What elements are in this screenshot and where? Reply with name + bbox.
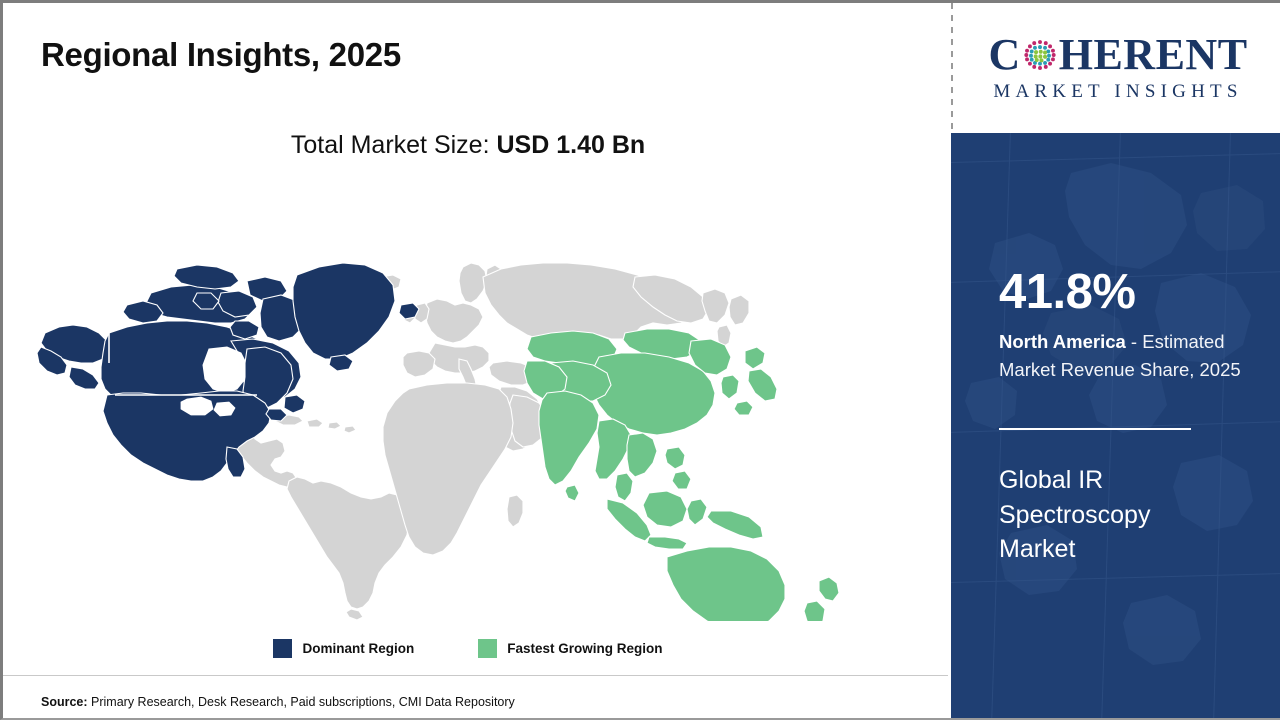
logo-wordmark-rest: HERENT [1059, 33, 1248, 77]
source-text: Primary Research, Desk Research, Paid su… [88, 695, 515, 709]
source-divider [3, 675, 948, 676]
legend-label-dominant: Dominant Region [302, 641, 414, 656]
page-title: Regional Insights, 2025 [41, 36, 401, 74]
stat-region-name: North America [999, 331, 1126, 352]
source-label: Source: [41, 695, 88, 709]
world-map [31, 181, 861, 621]
stat-panel: 41.8% North America - Estimated Market R… [951, 133, 1280, 720]
panel-content: 41.8% North America - Estimated Market R… [999, 133, 1280, 720]
logo-wordmark: C [988, 33, 1247, 77]
map-legend: Dominant Region Fastest Growing Region [3, 639, 933, 658]
globe-dots-icon [1022, 37, 1058, 73]
market-size-value: USD 1.40 Bn [496, 131, 645, 159]
market-name: Global IR Spectroscopy Market [999, 463, 1229, 567]
source-note: Source: Primary Research, Desk Research,… [41, 695, 515, 709]
brand-logo: C [953, 3, 1280, 133]
infographic-page: Regional Insights, 2025 Total Market Siz… [0, 0, 1280, 720]
logo-letter-c: C [988, 33, 1020, 77]
legend-item-dominant: Dominant Region [273, 639, 414, 658]
stat-value: 41.8% [999, 268, 1135, 317]
panel-divider-rule [999, 428, 1191, 430]
map-region-fastest-growing [524, 329, 839, 621]
map-region-dominant [37, 263, 419, 481]
left-content-pane: Regional Insights, 2025 Total Market Siz… [3, 3, 951, 720]
legend-label-fastest-growing: Fastest Growing Region [507, 641, 662, 656]
total-market-size: Total Market Size: USD 1.40 Bn [3, 131, 933, 160]
stat-caption: North America - Estimated Market Revenue… [999, 328, 1261, 384]
legend-swatch-dominant [273, 639, 292, 658]
legend-item-fastest-growing: Fastest Growing Region [478, 639, 662, 658]
logo-tagline: MARKET INSIGHTS [993, 81, 1242, 103]
market-size-label: Total Market Size: [291, 131, 497, 159]
legend-swatch-fastest-growing [478, 639, 497, 658]
